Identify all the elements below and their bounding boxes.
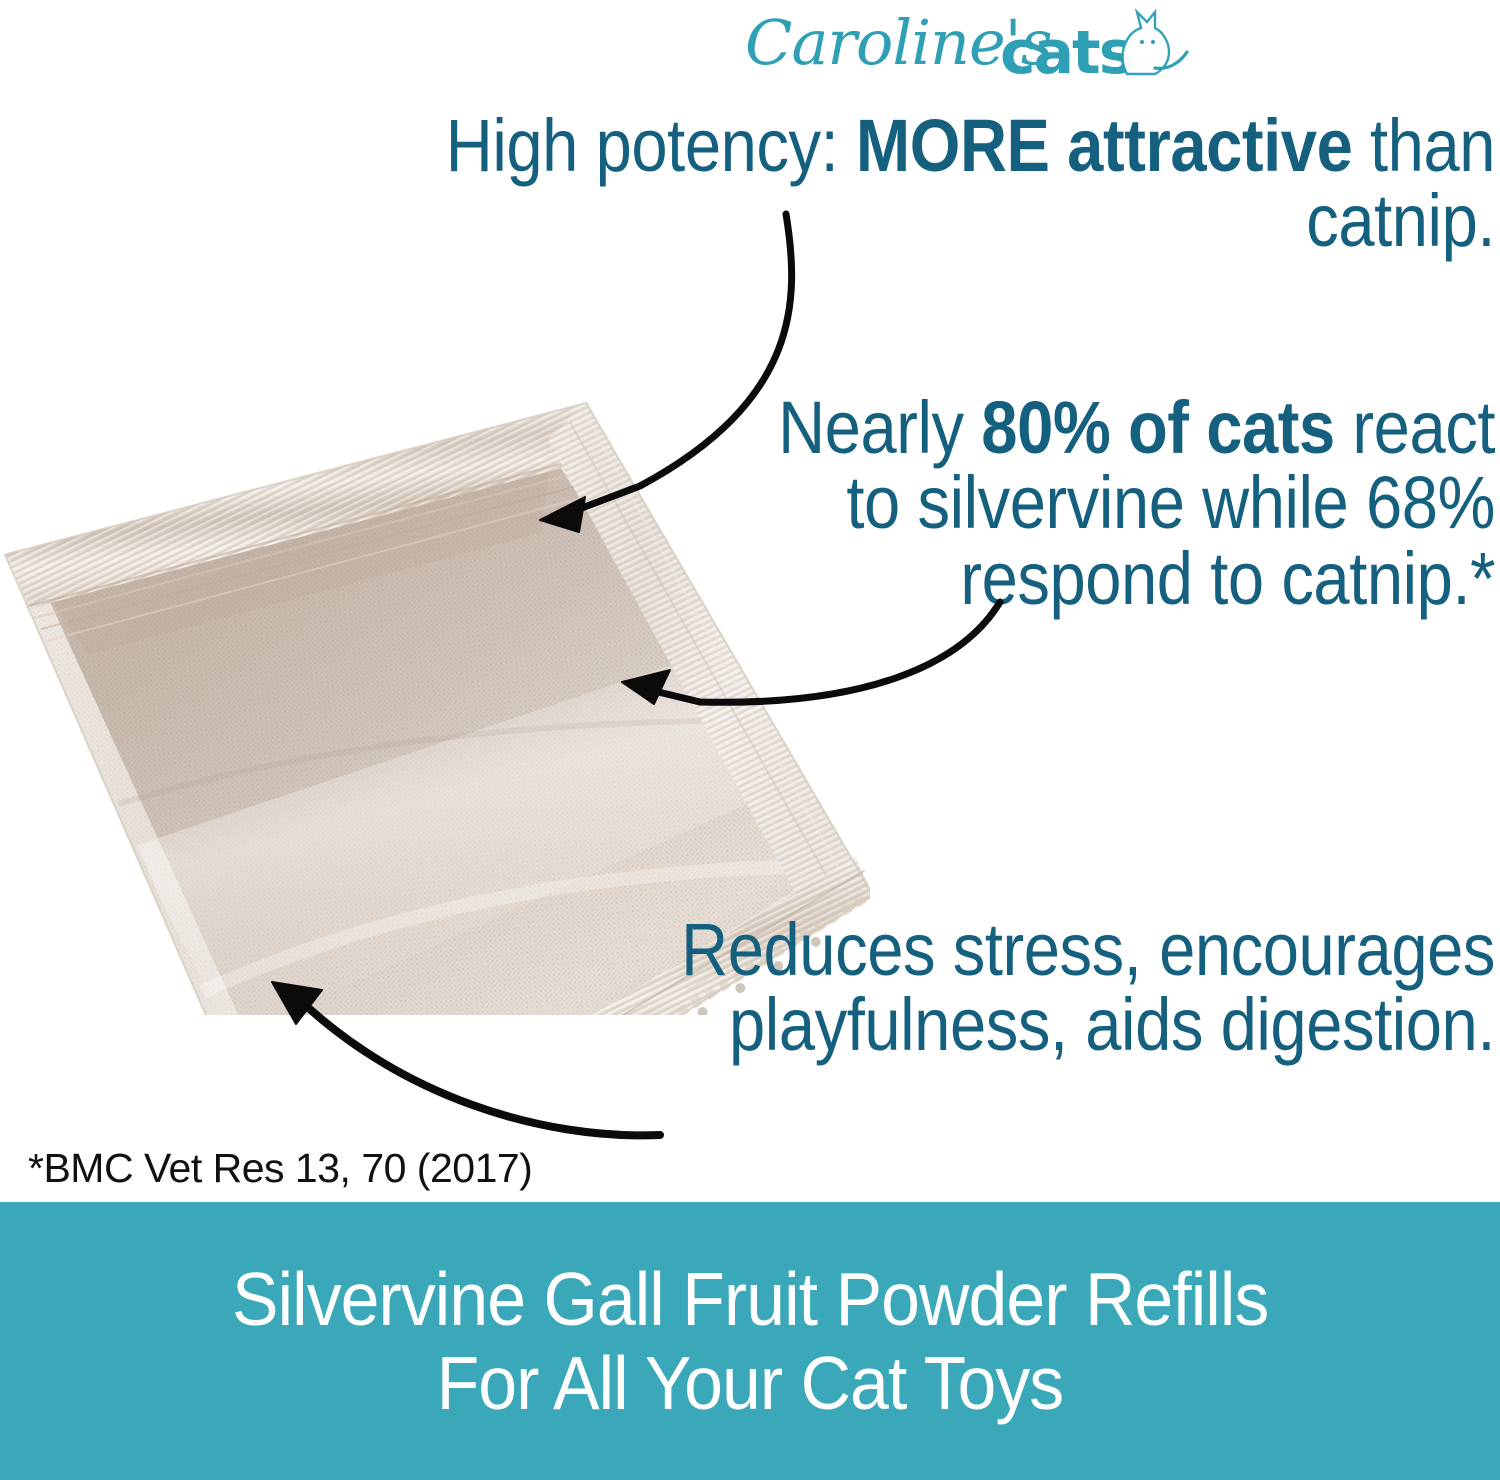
brand-logo: Caroline's cats xyxy=(745,2,1205,94)
product-title-banner: Silvervine Gall Fruit Powder Refills For… xyxy=(0,1202,1500,1480)
cat-silhouette-icon xyxy=(1097,0,1193,84)
callout-benefits: Reduces stress, encourages playfulness, … xyxy=(514,912,1495,1063)
infographic-canvas: Caroline's cats High potency: MORE attra… xyxy=(0,0,1500,1480)
product-photo-sachet xyxy=(0,215,870,1015)
banner-line-2: For All Your Cat Toys xyxy=(437,1341,1064,1425)
callout-high-potency: High potency: MORE attractive than catni… xyxy=(263,108,1495,259)
callout-response-stats: Nearly 80% of cats react to silvervine w… xyxy=(760,390,1495,616)
callout-potency-prefix: High potency: xyxy=(446,104,856,187)
callout-stats-prefix: Nearly xyxy=(778,386,981,469)
banner-line-1: Silvervine Gall Fruit Powder Refills xyxy=(232,1257,1268,1341)
callout-benefits-text: Reduces stress, encourages playfulness, … xyxy=(681,908,1495,1066)
callout-stats-emphasis: 80% of cats xyxy=(981,386,1334,469)
citation-footnote: *BMC Vet Res 13, 70 (2017) xyxy=(28,1145,532,1192)
callout-potency-emphasis: MORE attractive xyxy=(856,104,1352,187)
